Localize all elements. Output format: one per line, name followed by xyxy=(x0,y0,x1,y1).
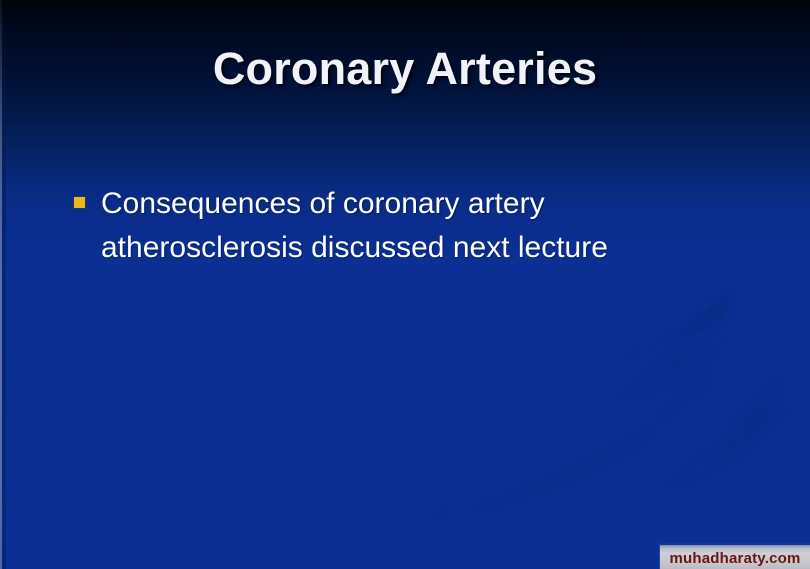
watermark-badge: muhadharaty.com xyxy=(659,543,810,569)
bullet-line-1: Consequences of coronary artery xyxy=(101,182,764,226)
square-bullet-icon xyxy=(74,197,85,208)
bullet-line-2: atherosclerosis discussed next lecture xyxy=(101,226,764,270)
slide-body: Consequences of coronary artery atherosc… xyxy=(74,182,764,270)
presentation-slide: Coronary Arteries Consequences of corona… xyxy=(0,0,810,569)
list-item: Consequences of coronary artery atherosc… xyxy=(74,182,764,270)
slide-title: Coronary Arteries xyxy=(0,46,810,91)
watermark-text: muhadharaty.com xyxy=(669,550,800,567)
